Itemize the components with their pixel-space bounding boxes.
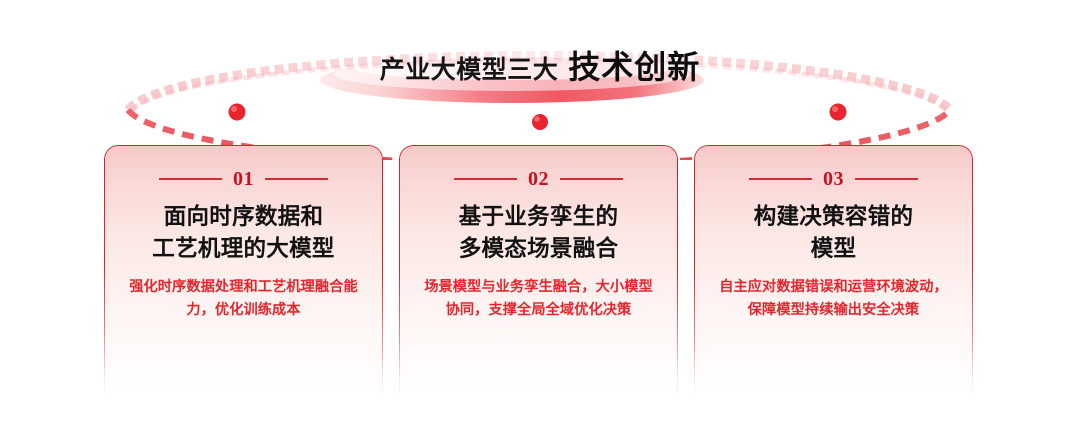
card-description: 场景模型与业务孪生融合，大小模型 协同，支撑全局全域优化决策	[404, 276, 673, 322]
card-heading: 基于业务孪生的 多模态场景融合	[447, 201, 631, 265]
rule-left-icon	[454, 178, 517, 180]
card-item-01[interactable]: 01 面向时序数据和 工艺机理的大模型 强化时序数据处理和工艺机理融合能 力，优…	[104, 145, 383, 407]
card-heading: 构建决策容错的 模型	[742, 201, 926, 265]
page-title-prefix: 产业大模型三大	[380, 50, 559, 86]
card-description-line: 场景模型与业务孪生融合，大小模型	[424, 276, 653, 299]
card-number: 01	[233, 169, 254, 189]
rule-right-icon	[855, 178, 918, 180]
card-item-02[interactable]: 02 基于业务孪生的 多模态场景融合 场景模型与业务孪生融合，大小模型 协同，支…	[399, 145, 678, 407]
card-number: 03	[823, 169, 844, 189]
card-description-line: 保障模型持续输出安全决策	[719, 299, 948, 322]
card-description-line: 自主应对数据错误和运营环境波动，	[719, 276, 948, 299]
rule-right-icon	[560, 178, 623, 180]
card-list: 01 面向时序数据和 工艺机理的大模型 强化时序数据处理和工艺机理融合能 力，优…	[104, 145, 973, 407]
card-number: 02	[528, 169, 549, 189]
card-heading-line: 构建决策容错的	[754, 201, 914, 233]
card-description-line: 强化时序数据处理和工艺机理融合能	[129, 276, 358, 299]
card-description-line: 力，优化训练成本	[129, 299, 358, 322]
card-description-line: 协同，支撑全局全域优化决策	[424, 299, 653, 322]
orbit-node-right	[830, 104, 847, 121]
orbit-node-left	[229, 104, 246, 121]
card-heading-line: 基于业务孪生的	[459, 201, 619, 233]
card-heading-line: 工艺机理的大模型	[152, 233, 334, 265]
card-description: 强化时序数据处理和工艺机理融合能 力，优化训练成本	[109, 276, 378, 322]
card-heading: 面向时序数据和 工艺机理的大模型	[140, 201, 346, 265]
rule-left-icon	[159, 178, 222, 180]
card-number-row: 01	[159, 167, 328, 191]
card-heading-line: 多模态场景融合	[459, 233, 619, 265]
page-title: 产业大模型三大 技术创新	[0, 34, 1080, 96]
rule-right-icon	[265, 178, 328, 180]
card-heading-line: 面向时序数据和	[152, 201, 334, 233]
card-description: 自主应对数据错误和运营环境波动， 保障模型持续输出安全决策	[699, 276, 968, 322]
card-number-row: 02	[454, 167, 623, 191]
rule-left-icon	[749, 178, 812, 180]
card-number-row: 03	[749, 167, 918, 191]
orbit-node-center	[532, 114, 548, 130]
card-heading-line: 模型	[754, 233, 914, 265]
card-item-03[interactable]: 03 构建决策容错的 模型 自主应对数据错误和运营环境波动， 保障模型持续输出安…	[694, 145, 973, 407]
infographic-canvas: 产业大模型三大 技术创新 01 面向时序数据和 工艺机理的大模型 强化时序数据处	[0, 0, 1080, 432]
page-title-emphasis: 技术创新	[568, 42, 700, 88]
